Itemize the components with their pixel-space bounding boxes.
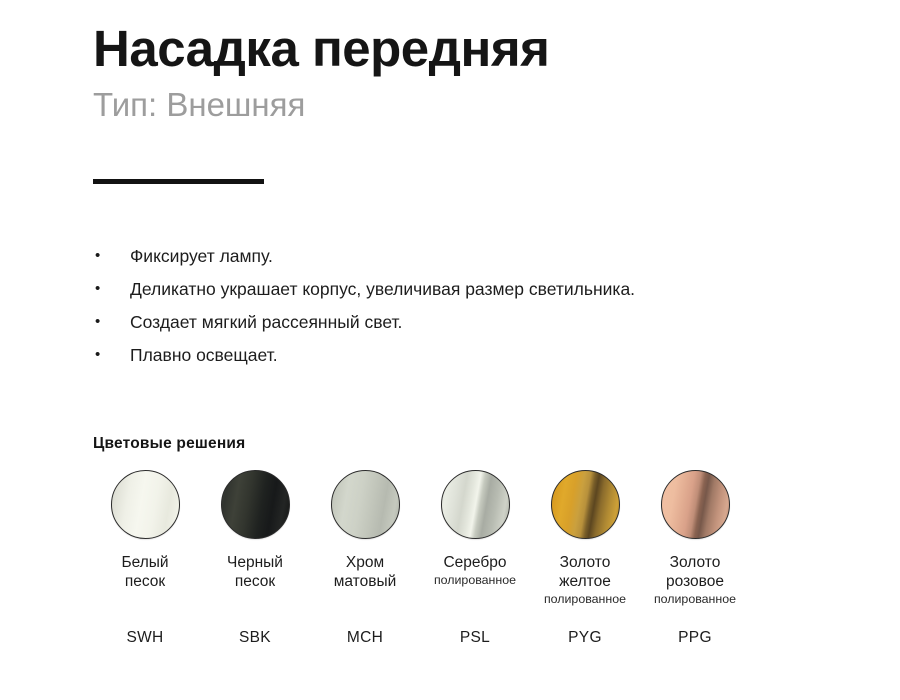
sku-code: PPG	[640, 629, 750, 647]
color-swatch-item[interactable]: Золото розовое полированное	[640, 470, 750, 608]
sku-code-row: SWH SBK MCH PSL PYG PPG	[90, 629, 780, 647]
color-name-line2: матовый	[334, 572, 397, 591]
color-name-line1: Золото	[654, 553, 736, 572]
color-name-line2: песок	[121, 572, 168, 591]
color-swatch-circle[interactable]	[331, 470, 400, 539]
color-name-line2: розовое	[654, 572, 736, 591]
color-name-line1: Хром	[334, 553, 397, 572]
page-header: Насадка передняя Тип: Внешняя	[93, 22, 853, 123]
color-name-line1: Серебро	[434, 553, 516, 572]
color-finish-line: полированное	[434, 572, 516, 589]
sku-code: SWH	[90, 629, 200, 647]
color-name-line1: Черный	[227, 553, 283, 572]
sku-code: MCH	[310, 629, 420, 647]
list-item: • Плавно освещает.	[93, 342, 883, 375]
feature-list: • Фиксирует лампу. • Деликатно украшает …	[93, 243, 883, 375]
color-swatch-label: Серебро полированное	[434, 553, 516, 589]
color-swatch-circle[interactable]	[221, 470, 290, 539]
bullet-dot-icon: •	[93, 342, 130, 368]
color-options-heading: Цветовые решения	[93, 435, 245, 453]
page-subtitle: Тип: Внешняя	[93, 87, 853, 123]
feature-text: Создает мягкий рассеянный свет.	[130, 309, 402, 335]
color-name-line2: песок	[227, 572, 283, 591]
color-swatch-label: Черный песок	[227, 553, 283, 591]
color-swatch-label: Хром матовый	[334, 553, 397, 591]
bullet-dot-icon: •	[93, 243, 130, 269]
product-spec-page: Насадка передняя Тип: Внешняя • Фиксируе…	[0, 0, 900, 700]
list-item: • Создает мягкий рассеянный свет.	[93, 309, 883, 342]
color-swatch-label: Золото розовое полированное	[654, 553, 736, 608]
color-swatch-item[interactable]: Серебро полированное	[420, 470, 530, 608]
color-name-line1: Золото	[544, 553, 626, 572]
color-swatch-item[interactable]: Белый песок	[90, 470, 200, 608]
bullet-dot-icon: •	[93, 276, 130, 302]
color-swatch-circle[interactable]	[441, 470, 510, 539]
color-swatch-item[interactable]: Хром матовый	[310, 470, 420, 608]
color-swatch-label: Белый песок	[121, 553, 168, 591]
color-name-line1: Белый	[121, 553, 168, 572]
list-item: • Деликатно украшает корпус, увеличивая …	[93, 276, 883, 309]
feature-text: Плавно освещает.	[130, 342, 278, 368]
feature-text: Фиксирует лампу.	[130, 243, 273, 269]
color-swatch-label: Золото желтое полированное	[544, 553, 626, 608]
color-swatch-circle[interactable]	[661, 470, 730, 539]
color-swatch-circle[interactable]	[111, 470, 180, 539]
color-swatch-circle[interactable]	[551, 470, 620, 539]
feature-text: Деликатно украшает корпус, увеличивая ра…	[130, 276, 635, 302]
page-title: Насадка передняя	[93, 22, 853, 76]
color-swatch-grid: Белый песок Черный песок Хром матовый	[90, 470, 780, 608]
bullet-dot-icon: •	[93, 309, 130, 335]
color-finish-line: полированное	[544, 591, 626, 608]
sku-code: SBK	[200, 629, 310, 647]
title-divider	[93, 179, 264, 184]
sku-code: PYG	[530, 629, 640, 647]
color-finish-line: полированное	[654, 591, 736, 608]
color-name-line2: желтое	[544, 572, 626, 591]
color-swatch-item[interactable]: Черный песок	[200, 470, 310, 608]
color-swatch-item[interactable]: Золото желтое полированное	[530, 470, 640, 608]
list-item: • Фиксирует лампу.	[93, 243, 883, 276]
sku-code: PSL	[420, 629, 530, 647]
